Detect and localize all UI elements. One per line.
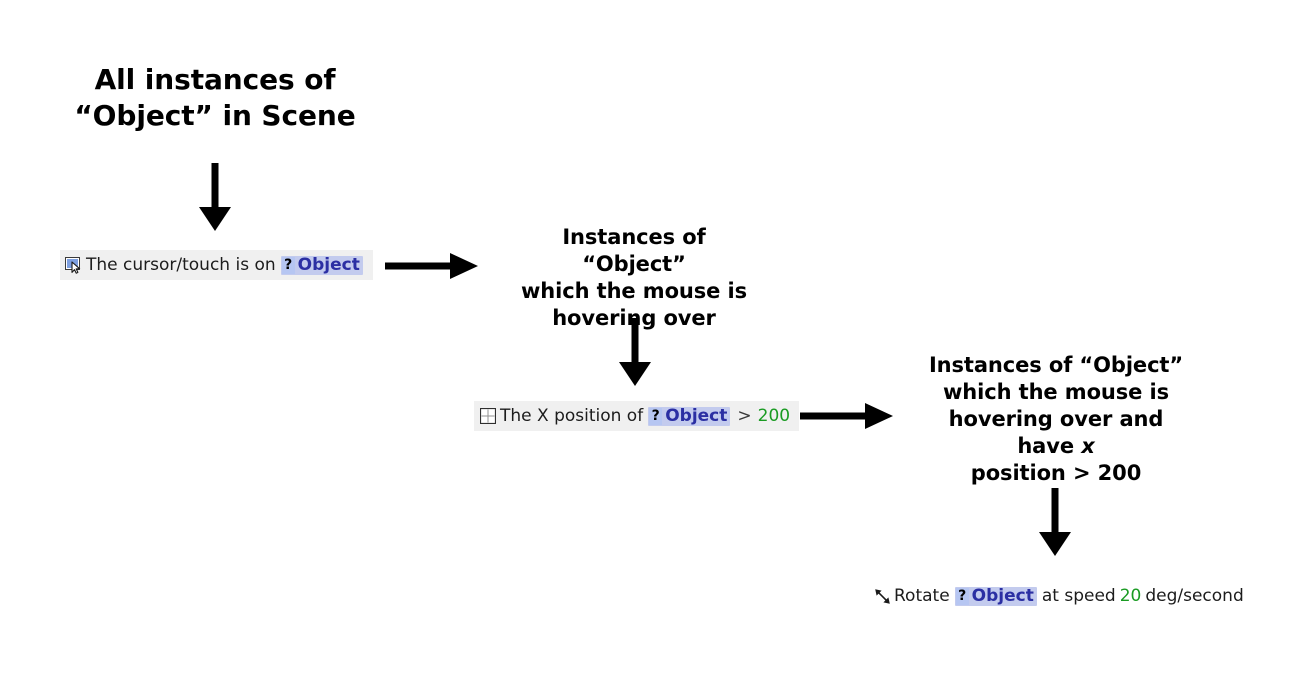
arrow-down-scene-to-cursor-block xyxy=(195,163,235,231)
comparison-operator: > xyxy=(737,408,751,425)
caption-instances-hovered-x-position: Instances of “Object” which the mouse is… xyxy=(928,352,1184,486)
variable-name-label: Object xyxy=(665,408,727,425)
script-block-cursor-touch-is-on[interactable]: The cursor/touch is on ? Object xyxy=(60,250,373,280)
block-label-prefix: Rotate xyxy=(894,588,950,605)
script-block-rotate-at-speed[interactable]: Rotate ? Object at speed 20 deg/second xyxy=(868,581,1251,611)
block-label-prefix: The cursor/touch is on xyxy=(86,257,276,274)
question-mark-badge-icon: ? xyxy=(956,588,969,605)
variable-object-pill[interactable]: ? Object xyxy=(955,587,1037,606)
question-mark-badge-icon: ? xyxy=(282,257,295,274)
rotate-speed-value[interactable]: 20 xyxy=(1120,588,1142,605)
caption-instances-hovered: Instances of “Object” which the mouse is… xyxy=(508,224,760,332)
arrow-down-hover-caption-to-xposition-block xyxy=(615,318,655,386)
cursor-on-object-icon xyxy=(64,255,84,275)
block-label-suffix: deg/second xyxy=(1145,588,1243,605)
block-label-prefix: The X position of xyxy=(500,408,643,425)
variable-object-pill[interactable]: ? Object xyxy=(648,407,730,426)
caption-all-instances-in-scene: All instances of “Object” in Scene xyxy=(60,62,370,134)
script-block-x-position-of[interactable]: The X position of ? Object > 200 xyxy=(474,401,799,431)
variable-name-label: Object xyxy=(972,588,1034,605)
comparison-value[interactable]: 200 xyxy=(758,408,790,425)
position-grid-icon xyxy=(478,406,498,426)
caption-hover-x-italic: x xyxy=(1081,434,1094,458)
variable-object-pill[interactable]: ? Object xyxy=(281,256,363,275)
rotate-diagonal-arrow-icon xyxy=(872,586,892,606)
arrow-right-xposition-block-to-hover-x-caption xyxy=(800,400,895,432)
question-mark-badge-icon: ? xyxy=(649,408,662,425)
arrow-down-hover-x-caption-to-rotate-block xyxy=(1035,488,1075,556)
caption-hover-x-part1: Instances of “Object” which the mouse is… xyxy=(929,353,1183,458)
caption-hover-x-part2: position > 200 xyxy=(971,461,1141,485)
arrow-right-cursor-block-to-hover-caption xyxy=(385,250,480,282)
diagram-canvas: All instances of “Object” in Scene The c… xyxy=(0,0,1289,682)
variable-name-label: Object xyxy=(298,257,360,274)
block-label-midfix: at speed xyxy=(1042,588,1116,605)
